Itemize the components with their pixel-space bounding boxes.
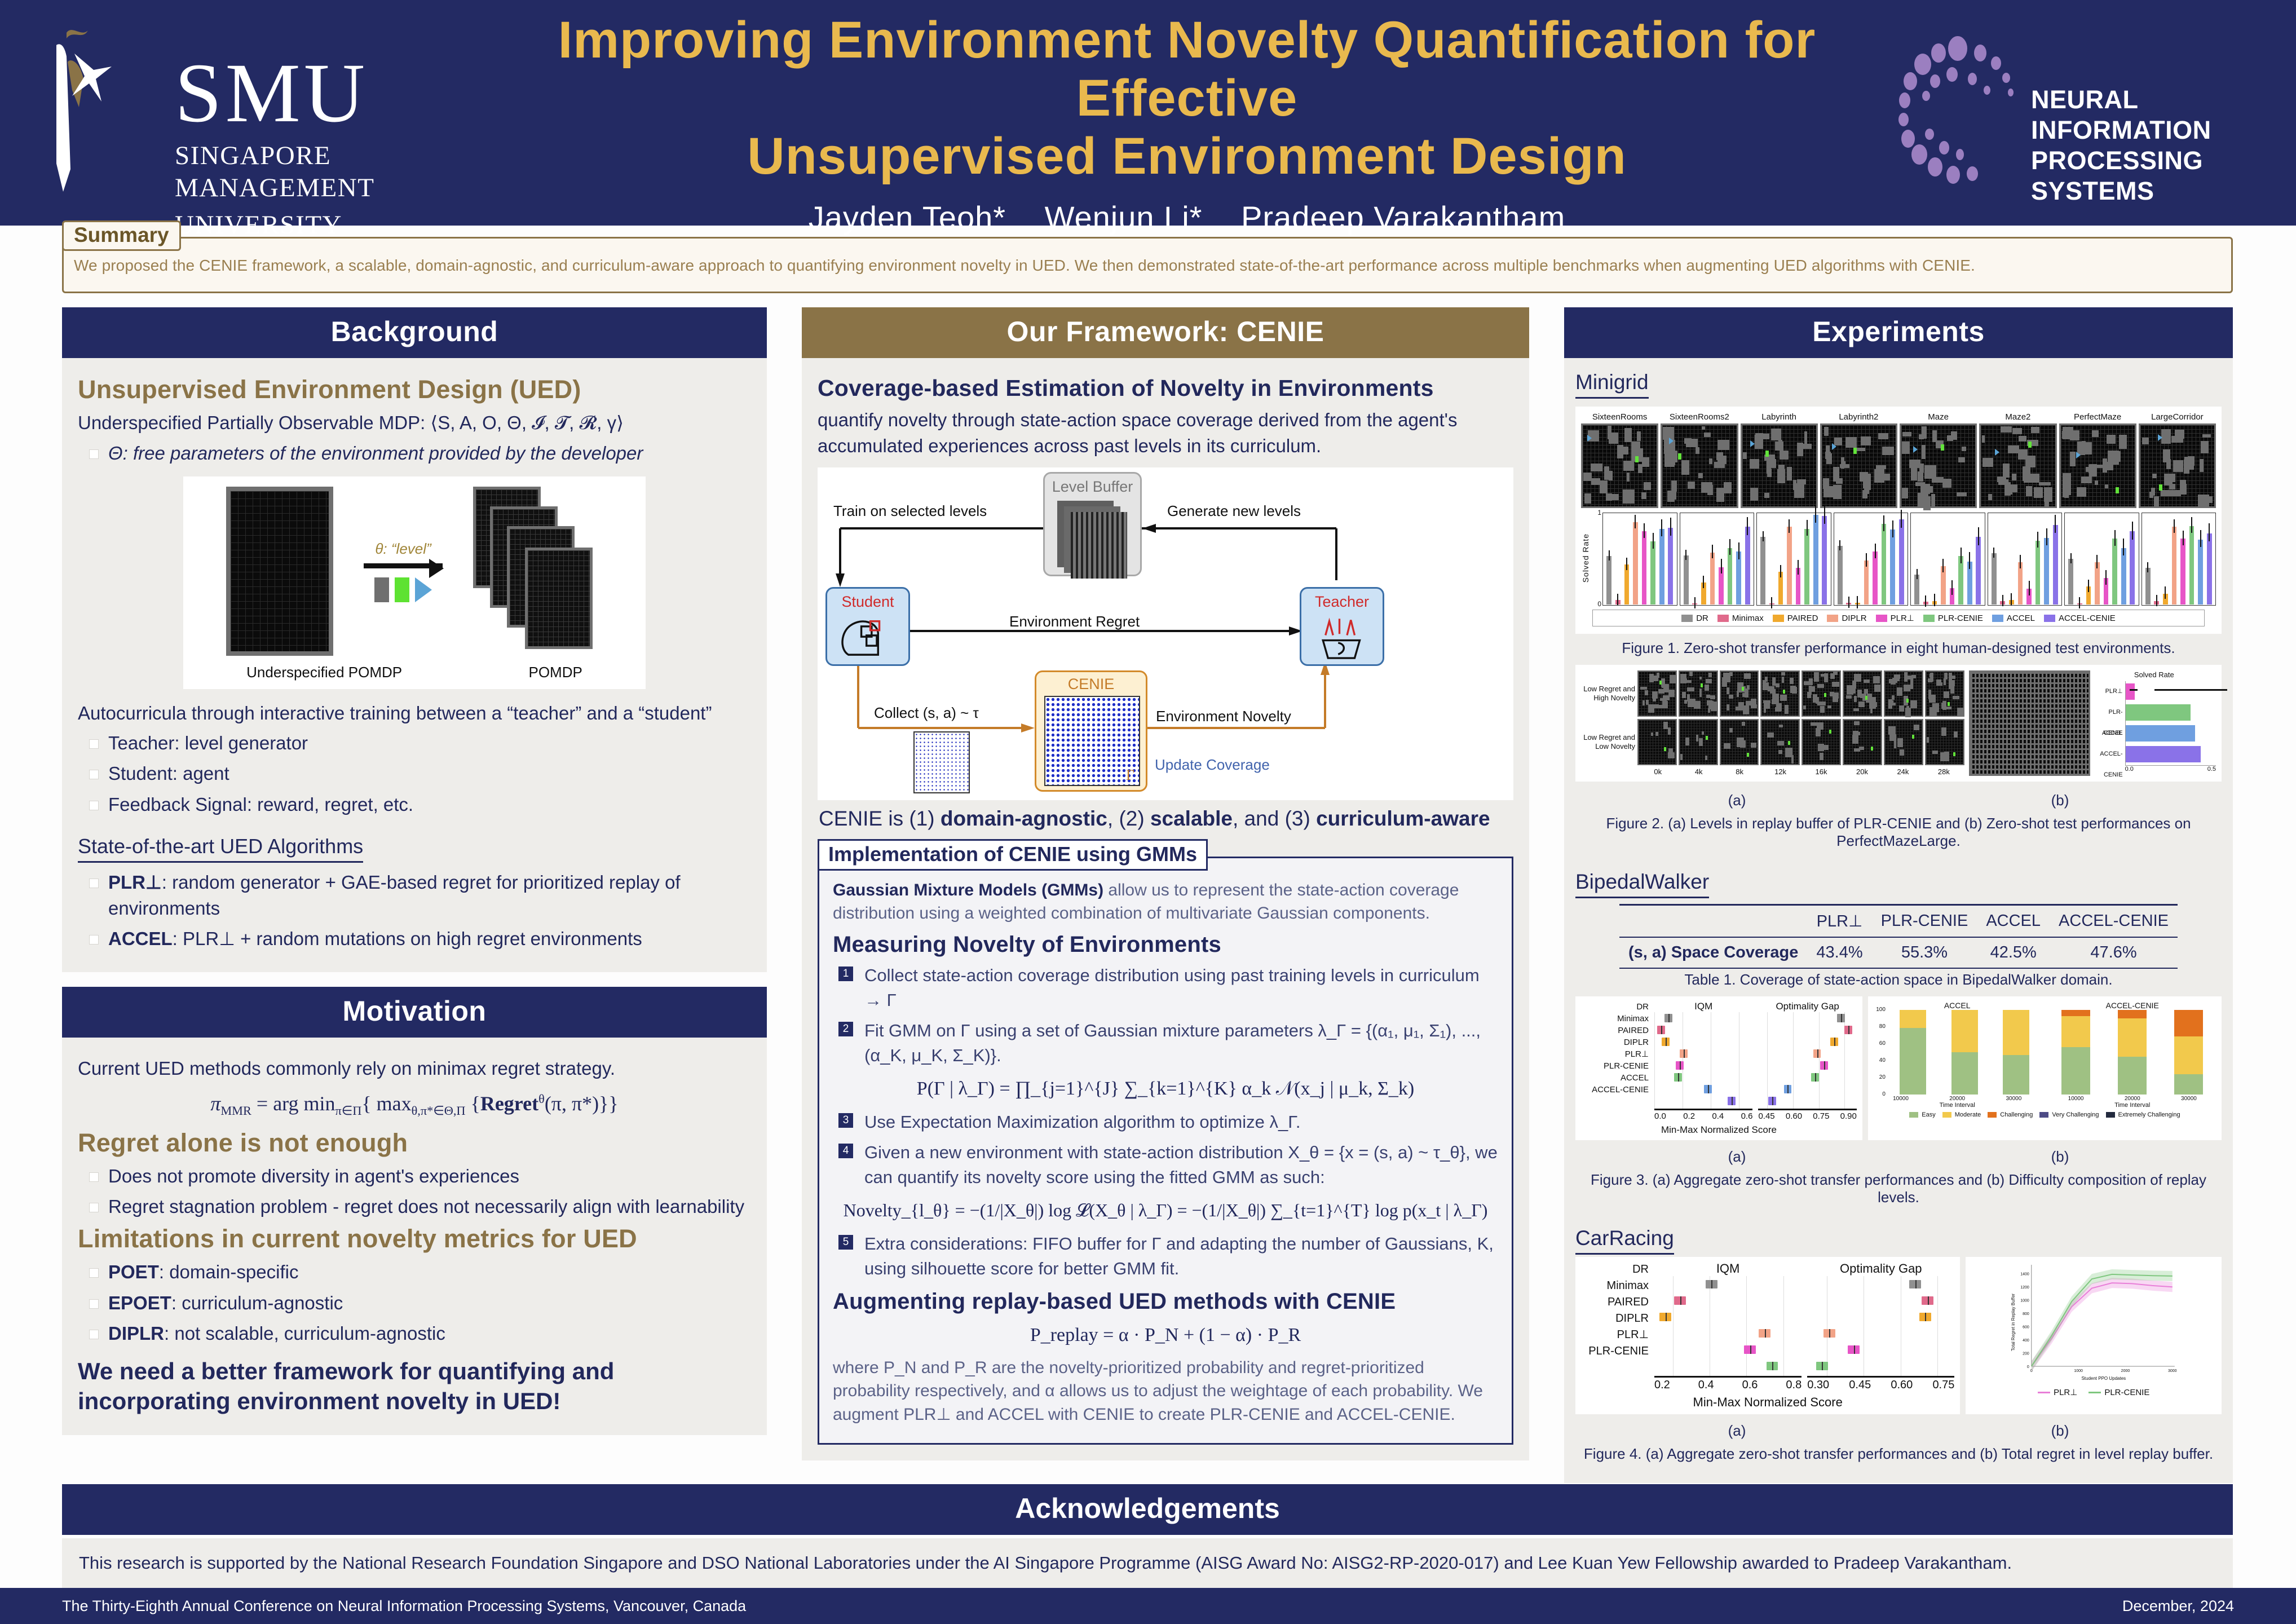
stack-segment-Easy	[2003, 1055, 2029, 1095]
bar-ACCEL-CENIE	[1976, 537, 1981, 604]
student-node: Student	[825, 587, 910, 666]
tagline-scalable: scalable	[1150, 807, 1233, 830]
novelty-formula: Novelty_{l_θ} = −(1/|X_θ|) log 𝓛(X_θ | λ…	[833, 1200, 1498, 1221]
stack-segment-Moderate	[1951, 1010, 1978, 1052]
bar-DIPLR	[1633, 522, 1638, 604]
bar-DIPLR	[2095, 562, 2100, 604]
bar-PAIRED	[1778, 572, 1783, 604]
bar-ACCEL	[1659, 529, 1664, 604]
teacher-icon	[1308, 612, 1376, 663]
legend-item-PLR⊥: PLR⊥	[2038, 1387, 2077, 1397]
fig2-xtick: 20k	[1842, 767, 1882, 776]
bar-Minimax	[1769, 603, 1774, 604]
stacked-xtick: 20000	[2125, 1096, 2140, 1102]
minigrid-env-5: Maze2	[1979, 412, 2056, 508]
sota-item-plr: PLR⊥: random generator + GAE-based regre…	[86, 870, 751, 921]
legend-item-PLR-CENIE: PLR-CENIE	[1923, 614, 1983, 623]
figure-1-panel-7	[2142, 513, 2216, 606]
teacher-label: Teacher	[1301, 593, 1383, 611]
acknowledgements-heading: Acknowledgements	[62, 1484, 2233, 1535]
theta-bullet: Θ: free parameters of the environment pr…	[86, 440, 751, 466]
stacked-bar-10000	[2061, 1010, 2090, 1095]
student-label: Student	[827, 593, 908, 611]
iqm-cat-PAIRED: PAIRED	[1581, 1294, 1649, 1310]
bar-PLR-CENIE	[1650, 541, 1655, 604]
minigrid-maze-icon	[2139, 423, 2216, 508]
bar-DIPLR	[1787, 527, 1792, 604]
stacked-xtick: 30000	[2181, 1096, 2197, 1102]
replay-level-thumbnail	[1720, 670, 1759, 717]
iqm-xtick: 0.30	[1807, 1379, 1829, 1392]
bar-DIPLR	[2018, 562, 2023, 604]
svg-text:1000: 1000	[2021, 1299, 2030, 1303]
figure-1-panel-5	[1988, 513, 2063, 606]
motivation-item-diversity: Does not promote diversity in agent's ex…	[86, 1163, 751, 1189]
iqm-point-PAIRED	[1919, 1313, 1931, 1321]
iqm-cat-Minimax: Minimax	[1581, 1013, 1649, 1025]
iqm-xtick: 0.6	[1742, 1379, 1758, 1392]
t1-cell-plr: 43.4%	[1807, 937, 1871, 968]
cenie-coverage-scatter: Γ	[1044, 696, 1140, 786]
bar-PLR-CENIE	[2189, 526, 2195, 604]
summary-box: Summary We proposed the CENIE framework,…	[62, 237, 2233, 293]
sample-scatter-thumbnail	[913, 731, 970, 793]
bar-PLR⊥	[2104, 578, 2109, 604]
motivation-sub2: Limitations in current novelty metrics f…	[78, 1224, 751, 1254]
svg-text:600: 600	[2023, 1326, 2030, 1330]
minigrid-maze-icon	[1661, 423, 1738, 508]
iqm-cat-DIPLR: DIPLR	[1581, 1310, 1649, 1327]
iqm-point-PLR⊥	[1848, 1345, 1860, 1354]
experiments-body: Minigrid SixteenRoomsSixteenRooms2Labyri…	[1564, 358, 2233, 1483]
update-coverage-label: Update Coverage	[1155, 756, 1270, 774]
fig1-ytick-0: 0	[1597, 600, 1601, 608]
augmenting-text: where P_N and P_R are the novelty-priori…	[833, 1356, 1498, 1426]
panel-motivation: Motivation Current UED methods commonly …	[62, 987, 767, 1435]
stack-segment-Moderate	[2061, 1016, 2090, 1048]
stacked-xlabel: Time Interval	[1873, 1102, 2042, 1109]
table-1-caption: Table 1. Coverage of state-action space …	[1575, 971, 2222, 988]
stacked-panel-ACCEL-CENIE: ACCEL-CENIE100002000030000Time Interval	[2047, 1001, 2217, 1109]
iqm-point-DR	[1706, 1280, 1717, 1288]
neurips-logo: NEURAL INFORMATION PROCESSING SYSTEMS	[1890, 34, 2273, 192]
iqm-cat-PLR⊥: PLR⊥	[1581, 1048, 1649, 1060]
figure-1-panel-6	[2064, 513, 2139, 606]
minigrid-env-2: Labyrinth	[1741, 412, 1818, 508]
replay-level-thumbnail	[1843, 719, 1882, 765]
legend-item-ACCEL-CENIE: ACCEL-CENIE	[2044, 614, 2116, 623]
poster-footer: The Thirty-Eighth Annual Conference on N…	[0, 1588, 2296, 1624]
svg-text:1400: 1400	[2021, 1273, 2030, 1277]
ued-figure-captions: Underspecified POMDP POMDP	[183, 664, 646, 681]
stack-segment-Moderate	[2174, 1036, 2203, 1075]
right-arrow-icon	[364, 563, 443, 568]
iqm-point-Minimax	[1657, 1026, 1665, 1034]
gmm-intro: Gaussian Mixture Models (GMMs) allow us …	[833, 879, 1498, 925]
column-middle: Our Framework: CENIE Coverage-based Esti…	[802, 307, 1529, 1460]
minigrid-maze-icon	[2059, 423, 2136, 508]
smu-crest-icon	[39, 23, 180, 192]
svg-text:400: 400	[2023, 1339, 2030, 1343]
gmm-steps-cont: 3Use Expectation Maximization algorithm …	[838, 1110, 1498, 1190]
figure-3a: DRMinimaxPAIREDDIPLRPLR⊥PLR-CENIEACCELAC…	[1575, 996, 1862, 1140]
tagline-2: , (2)	[1107, 807, 1150, 830]
fig2b-bar-PLR⊥	[2126, 683, 2135, 700]
iqm-xtick: 0.75	[1932, 1379, 1954, 1392]
tagline-3: , and (3)	[1233, 807, 1316, 830]
replay-level-thumbnail	[1679, 719, 1718, 765]
iqm-point-ACCEL	[1784, 1085, 1792, 1093]
bar-PLR⊥	[1719, 567, 1724, 604]
iqm-xtick: 0.60	[1786, 1111, 1802, 1121]
experiments-heading: Experiments	[1564, 307, 2233, 358]
fig2-x-ticks: 0k4k8k12k16k20k24k28k	[1637, 767, 1964, 776]
stacked-panel-title: ACCEL-CENIE	[2047, 1001, 2217, 1010]
bar-ACCEL	[1890, 529, 1895, 604]
limitation-epoet: EPOET: curriculum-agnostic	[86, 1290, 751, 1316]
stack-segment-Easy	[1900, 1028, 1926, 1095]
role-feedback: Feedback Signal: reward, regret, etc.	[86, 792, 751, 818]
framework-body: Coverage-based Estimation of Novelty in …	[802, 358, 1529, 1460]
stack-segment-Moderate	[2003, 1010, 2029, 1055]
bar-PLR⊥	[1796, 568, 1801, 604]
stacked-ytick: 20	[1879, 1074, 1886, 1080]
figure-2-sublabels: (a) (b)	[1575, 792, 2222, 809]
iqm-point-DIPLR	[1680, 1049, 1688, 1058]
table-row: (s, a) Space Coverage 43.4% 55.3% 42.5% …	[1619, 937, 2178, 968]
svg-text:Total Regret in Replay Buffer: Total Regret in Replay Buffer	[2011, 1294, 2016, 1351]
motivation-heading: Motivation	[62, 987, 767, 1038]
iqm-xlabel: Min-Max Normalized Score	[1581, 1395, 1954, 1410]
fig2b-cat-PLR⊥: PLR⊥	[2092, 681, 2125, 702]
table-1-header-row: PLR⊥ PLR-CENIE ACCEL ACCEL-CENIE	[1619, 905, 2178, 938]
legend-item-Challenging: Challenging	[1988, 1111, 2033, 1118]
generate-levels-label: Generate new levels	[1167, 502, 1301, 520]
minigrid-maze-icon	[1900, 423, 1977, 508]
level-buffer-node: Level Buffer	[1043, 472, 1142, 576]
fig2b-xtick-1: 0.5	[2207, 766, 2216, 773]
gmm-step-2: 2Fit GMM on Γ using a set of Gaussian mi…	[838, 1018, 1498, 1068]
gmm-bold-term: Gaussian Mixture Models (GMMs)	[833, 881, 1103, 899]
iqm-xtick: 0.75	[1813, 1111, 1829, 1121]
bar-Minimax	[1615, 600, 1621, 604]
iqm-panel-title: Optimality Gap	[1807, 1261, 1954, 1276]
iqm-xtick: 0.8	[1786, 1379, 1802, 1392]
table-1: PLR⊥ PLR-CENIE ACCEL ACCEL-CENIE (s, a) …	[1619, 904, 2178, 969]
iqm-cat-DIPLR: DIPLR	[1581, 1036, 1649, 1048]
minigrid-env-7: LargeCorridor	[2139, 412, 2216, 508]
replay-level-thumbnail	[1679, 670, 1718, 717]
fig2-row1-levels	[1637, 670, 1964, 717]
svg-text:200: 200	[2023, 1352, 2030, 1356]
role-student: Student: agent	[86, 761, 751, 787]
bar-DIPLR	[1710, 553, 1715, 604]
summary-text: We proposed the CENIE framework, a scala…	[74, 255, 2223, 275]
bar-PAIRED	[1855, 603, 1860, 604]
author-1: Jayden Teoh*	[809, 200, 1006, 235]
bar-ACCEL-CENIE	[2053, 525, 2058, 604]
poster-title-line2: Unsupervised Environment Design	[747, 127, 1627, 185]
t1-col-2: PLR-CENIE	[1872, 905, 1977, 938]
author-3: Pradeep Varakantham	[1241, 200, 1565, 235]
cenie-tagline: CENIE is (1) domain-agnostic, (2) scalab…	[818, 804, 1513, 834]
bar-DR	[2068, 559, 2073, 604]
figure-4-sublabels: (a) (b)	[1575, 1422, 2222, 1440]
motivation-item-stagnation: Regret stagnation problem - regret does …	[86, 1194, 751, 1220]
iqm-point-PLR⊥	[1744, 1345, 1756, 1354]
bar-DR	[1914, 575, 1919, 604]
iqm-xtick: 0.2	[1683, 1111, 1695, 1121]
fig2-xtick: 8k	[1719, 767, 1760, 776]
replay-level-thumbnail	[1925, 670, 1964, 717]
stacked-ytick: 40	[1879, 1057, 1886, 1063]
fig1-ytick-1: 1	[1597, 509, 1601, 517]
bar-ACCEL	[2044, 538, 2049, 604]
neurips-wordmark: NEURAL INFORMATION PROCESSING SYSTEMS	[2031, 85, 2273, 206]
theta-level-label: θ: “level”	[375, 540, 431, 558]
caption-pomdp: POMDP	[528, 664, 582, 681]
iqm-panel-title: IQM	[1654, 1001, 1752, 1012]
underspecified-grid-icon	[226, 487, 333, 656]
iqm-cat-Minimax: Minimax	[1581, 1278, 1649, 1294]
bar-PLR⊥	[2026, 589, 2032, 604]
fig2-row2-label-l2: Low Novelty	[1581, 742, 1635, 751]
smu-logo: SMU SINGAPORE MANAGEMENT UNIVERSITY	[34, 17, 479, 203]
svg-text:800: 800	[2023, 1312, 2030, 1316]
poster-root: SMU SINGAPORE MANAGEMENT UNIVERSITY Impr…	[0, 0, 2296, 1624]
sota-name-accel: ACCEL	[108, 928, 173, 949]
gmm-implementation-tag: Implementation of CENIE using GMMs	[818, 839, 1208, 871]
minigrid-maze-icon	[1581, 423, 1658, 508]
mdp-definition: Underspecified Partially Observable MDP:…	[78, 410, 751, 436]
limitation-poet-name: POET	[108, 1261, 159, 1282]
fig2b-category-names: PLR⊥PLR-CENIEACCELACCEL-CENIE	[2092, 681, 2125, 766]
figure-1-panel-3	[1834, 513, 1909, 606]
limitation-diplr-desc: : not scalable, curriculum-agnostic	[164, 1323, 445, 1344]
stacked-panel-title: ACCEL	[1873, 1001, 2042, 1010]
stacked-ytick: 80	[1879, 1023, 1886, 1030]
framework-subtitle: Coverage-based Estimation of Novelty in …	[818, 375, 1513, 401]
fig2b-cat-ACCEL-CENIE: ACCEL-CENIE	[2092, 744, 2125, 765]
stacked-bar-30000	[2174, 1010, 2203, 1095]
minigrid-env-title: LargeCorridor	[2139, 412, 2216, 422]
motivation-intro: Current UED methods commonly rely on min…	[78, 1056, 751, 1082]
iqm-point-PAIRED	[1659, 1313, 1671, 1321]
poster-header: SMU SINGAPORE MANAGEMENT UNIVERSITY Impr…	[0, 0, 2296, 226]
panel-framework: Our Framework: CENIE Coverage-based Esti…	[802, 307, 1529, 1460]
ued-title: Unsupervised Environment Design (UED)	[78, 375, 751, 404]
fig2-row2-levels	[1637, 719, 1964, 765]
bar-ACCEL	[1813, 515, 1818, 604]
bar-ACCEL	[2198, 540, 2203, 604]
iqm-panel-IQM: IQM0.00.20.40.6	[1654, 1001, 1752, 1121]
replay-level-thumbnail	[1720, 719, 1759, 765]
environment-novelty-label: Environment Novelty	[1156, 708, 1291, 725]
sota-heading: State-of-the-art UED Algorithms	[78, 835, 363, 863]
figure-1-panel-4	[1910, 513, 1985, 606]
legend-item-Extremely Challenging: Extremely Challenging	[2106, 1111, 2180, 1118]
bar-Minimax	[2077, 603, 2082, 604]
bar-DIPLR	[1941, 566, 1946, 604]
iqm-point-PAIRED	[1662, 1038, 1670, 1046]
stacked-bar-30000	[2003, 1010, 2029, 1095]
bar-PLR-CENIE	[1728, 548, 1733, 604]
stack-segment-Challenging	[2174, 1010, 2203, 1036]
panel-background: Background Unsupervised Environment Desi…	[62, 307, 767, 972]
augmenting-title: Augmenting replay-based UED methods with…	[833, 1289, 1498, 1314]
iqm-point-PLR-CENIE	[1767, 1362, 1778, 1370]
bipedalwalker-title: BipedalWalker	[1575, 870, 1709, 898]
iqm-point-PLR-CENIE	[1674, 1073, 1682, 1082]
bar-PLR⊥	[1873, 551, 1878, 604]
minigrid-env-title: Labyrinth	[1741, 412, 1818, 422]
stacked-chart-area	[1887, 1010, 2042, 1095]
bar-ACCEL-CENIE	[1822, 516, 1827, 604]
fig2-xtick: 4k	[1678, 767, 1719, 776]
replay-level-thumbnail	[1637, 670, 1677, 717]
stack-segment-Moderate	[2118, 1018, 2147, 1057]
iqm-point-DR	[1664, 1014, 1672, 1022]
bar-DR	[1684, 555, 1689, 604]
stack-segment-Moderate	[1900, 1010, 1926, 1028]
minigrid-title: Minigrid	[1575, 370, 1649, 399]
figure-4a: DRMinimaxPAIREDDIPLRPLR⊥PLR-CENIEIQM0.20…	[1575, 1257, 1960, 1414]
autocurricula-text: Autocurricula through interactive traini…	[78, 700, 751, 726]
cenie-flow-diagram: Level Buffer Train on selected levels Ge…	[818, 467, 1513, 800]
minigrid-env-strip: SixteenRoomsSixteenRooms2LabyrinthLabyri…	[1581, 412, 2216, 508]
iqm-cat-DR: DR	[1581, 1001, 1649, 1013]
fig2-xtick: 16k	[1801, 767, 1842, 776]
stacked-yaxis: 020406080100	[1873, 1010, 1887, 1095]
motivation-sub2-list: POET: domain-specific EPOET: curriculum-…	[86, 1259, 751, 1347]
minigrid-env-3: Labyrinth2	[1820, 412, 1897, 508]
framework-heading: Our Framework: CENIE	[802, 307, 1529, 358]
figure-1-legend: DRMinimaxPAIREDDIPLRPLR⊥PLR-CENIEACCELAC…	[1592, 610, 2205, 626]
smu-sub-line-1: SINGAPORE MANAGEMENT	[175, 140, 479, 205]
footer-left: The Thirty-Eighth Annual Conference on N…	[62, 1597, 746, 1615]
bar-PLR-CENIE	[2112, 539, 2117, 604]
bar-DR	[1838, 546, 1843, 604]
replay-level-thumbnail	[1637, 719, 1677, 765]
neurips-line-1: NEURAL INFORMATION	[2031, 85, 2273, 145]
limitation-poet: POET: domain-specific	[86, 1259, 751, 1285]
fig2-row1-label-l1: Low Regret and	[1581, 685, 1635, 694]
gmm-step-3: 3Use Expectation Maximization algorithm …	[838, 1110, 1498, 1135]
bar-DR	[2145, 568, 2151, 604]
motivation-closing: We need a better framework for quantifyi…	[78, 1357, 751, 1416]
minigrid-env-title: Maze2	[1979, 412, 2056, 422]
fig2-xtick: 24k	[1883, 767, 1923, 776]
iqm-plot-area	[1654, 1276, 1802, 1378]
title-block: Improving Environment Novelty Quantifica…	[496, 11, 1878, 268]
replay-level-thumbnail	[1843, 670, 1882, 717]
tagline-curriculum-aware: curriculum-aware	[1316, 807, 1490, 830]
bar-PAIRED	[1932, 601, 1937, 604]
bar-ACCEL-CENIE	[2130, 531, 2135, 604]
bar-DIPLR	[2172, 527, 2177, 604]
iqm-point-DIPLR	[1823, 1329, 1835, 1338]
cenie-label: CENIE	[1036, 676, 1146, 693]
figure-3b-legend: EasyModerateChallengingVery ChallengingE…	[1873, 1111, 2217, 1118]
bar-DR	[1606, 556, 1611, 604]
iqm-category-names: DRMinimaxPAIREDDIPLRPLR⊥PLR-CENIE	[1581, 1261, 1649, 1392]
sota-desc-plr: : random generator + GAE-based regret fo…	[108, 872, 681, 919]
stacked-bar-20000	[2118, 1010, 2147, 1095]
figure-4-caption: Figure 4. (a) Aggregate zero-shot transf…	[1575, 1445, 2222, 1463]
train-on-levels-label: Train on selected levels	[833, 502, 987, 520]
gmm-step-5-text: Extra considerations: FIFO buffer for Γ …	[864, 1234, 1494, 1278]
bar-ACCEL-CENIE	[2207, 533, 2212, 604]
stacked-xlabel: Time Interval	[2047, 1102, 2217, 1109]
figure-1-caption: Figure 1. Zero-shot transfer performance…	[1575, 639, 2222, 657]
bar-PLR⊥	[1950, 588, 1955, 604]
t1-col-4: ACCEL-CENIE	[2050, 905, 2178, 938]
sota-name-plr: PLR⊥	[108, 872, 162, 893]
iqm-point-DR	[1909, 1280, 1921, 1288]
svg-text:3000: 3000	[2168, 1369, 2177, 1373]
neurips-line-2: PROCESSING SYSTEMS	[2031, 145, 2273, 206]
t1-col-3: ACCEL	[1977, 905, 2050, 938]
iqm-cat-PAIRED: PAIRED	[1581, 1025, 1649, 1036]
t1-col-1: PLR⊥	[1807, 905, 1871, 938]
figure-1-panel-0	[1602, 513, 1677, 606]
figure-1-panel-2	[1756, 513, 1831, 606]
iqm-cat-ACCEL-CENIE: ACCEL-CENIE	[1581, 1084, 1649, 1096]
iqm-point-PAIRED	[1830, 1038, 1838, 1046]
bar-Minimax	[2154, 601, 2159, 604]
minigrid-env-title: SixteenRooms	[1581, 412, 1658, 422]
limitation-epoet-desc: : curriculum-agnostic	[171, 1292, 343, 1313]
bar-PLR-CENIE	[1804, 529, 1809, 604]
gmm-likelihood-formula: P(Γ | λ_Γ) = ∏_{j=1}^{J} ∑_{k=1}^{K} α_k…	[833, 1078, 1498, 1100]
stacked-panel-ACCEL: ACCEL020406080100100002000030000Time Int…	[1873, 1001, 2042, 1109]
regret-line-chart: 02004006008001000120014000100020003000St…	[1969, 1260, 2218, 1384]
motivation-sub1-list: Does not promote diversity in agent's ex…	[86, 1163, 751, 1220]
figure-1-card: SixteenRoomsSixteenRooms2LabyrinthLabyri…	[1575, 407, 2222, 634]
svg-text:1200: 1200	[2021, 1286, 2030, 1290]
minigrid-env-1: SixteenRooms2	[1661, 412, 1738, 508]
bar-ACCEL	[2121, 548, 2126, 604]
iqm-point-ACCEL-CENIE	[1728, 1097, 1736, 1105]
iqm-point-PLR⊥	[1676, 1061, 1684, 1070]
theta-list: Θ: free parameters of the environment pr…	[86, 440, 751, 466]
bar-Minimax	[2000, 601, 2005, 604]
stacked-bar-20000	[1951, 1010, 1978, 1095]
environment-regret-label: Environment Regret	[1009, 613, 1140, 630]
bar-ACCEL-CENIE	[1668, 528, 1673, 604]
stacked-xtick: 20000	[1949, 1096, 1965, 1102]
iqm-axis-ticks: 0.300.450.600.75	[1807, 1379, 1954, 1392]
fig2b-title: Solved Rate	[2092, 670, 2216, 679]
bar-DIPLR	[1864, 561, 1869, 604]
level-buffer-label: Level Buffer	[1045, 478, 1140, 496]
figure-1-panel-1	[1680, 513, 1755, 606]
svg-text:Student PPO Updates: Student PPO Updates	[2082, 1376, 2126, 1381]
caption-underspecified-pomdp: Underspecified POMDP	[246, 664, 402, 681]
gmm-implementation-box: Implementation of CENIE using GMMs Gauss…	[818, 857, 1513, 1445]
fig2b-bar-ACCEL-CENIE	[2126, 746, 2201, 762]
fig2b-xtick-0: 0.0	[2125, 766, 2134, 773]
iqm-point-Minimax	[1922, 1296, 1933, 1305]
bar-PLR⊥	[1642, 531, 1647, 604]
stack-segment-Easy	[2118, 1057, 2147, 1095]
legend-item-DIPLR: DIPLR	[1827, 614, 1866, 623]
stack-segment-Easy	[1951, 1052, 1978, 1095]
bar-ACCEL-CENIE	[1745, 527, 1750, 604]
iqm-point-ACCEL-CENIE	[1768, 1097, 1776, 1105]
motivation-body: Current UED methods commonly rely on min…	[62, 1038, 767, 1435]
gmm-steps-extra: 5Extra considerations: FIFO buffer for Γ…	[838, 1232, 1498, 1281]
